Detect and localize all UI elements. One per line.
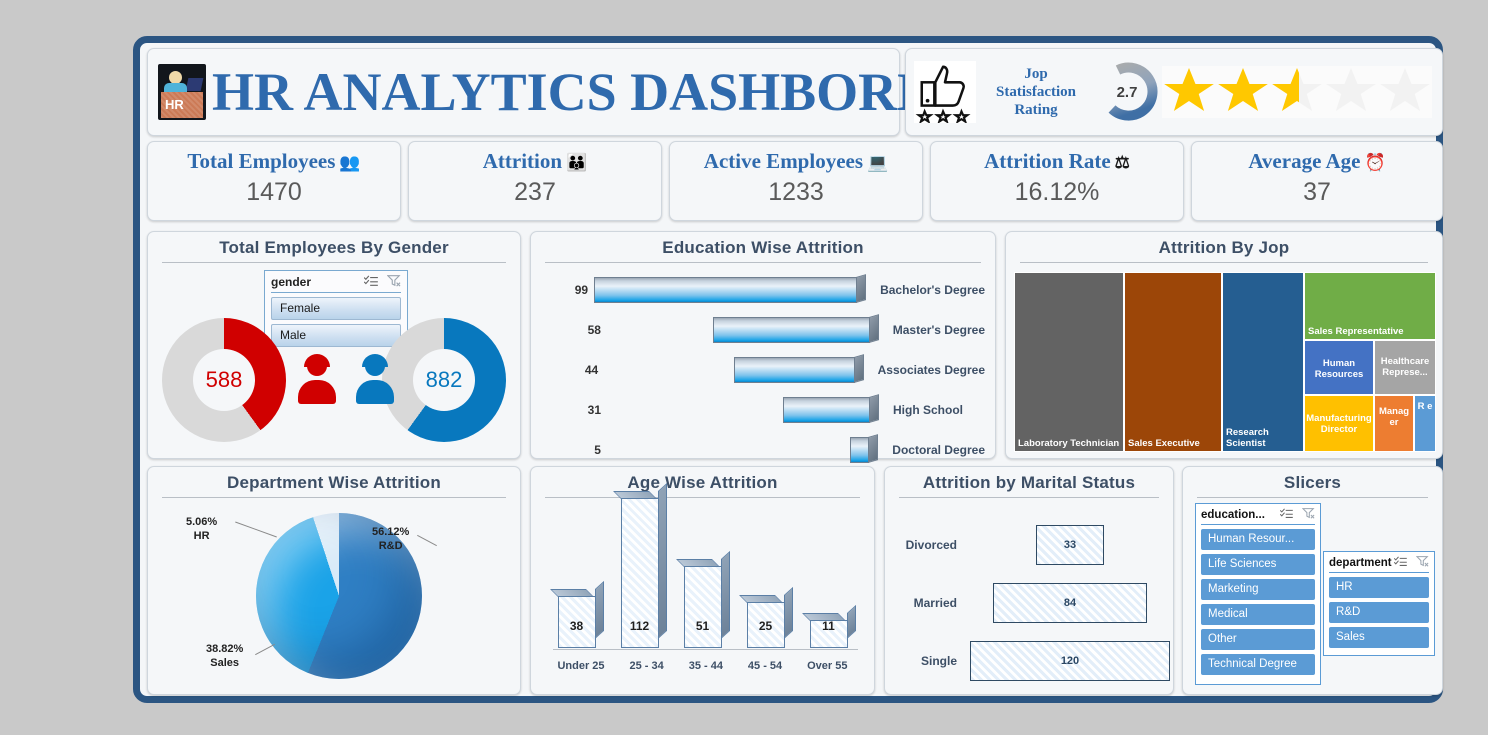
leader-line bbox=[417, 535, 437, 546]
treemap-tile-sales-representative[interactable]: Sales Representative bbox=[1304, 272, 1436, 340]
treemap-tile-research-scientist[interactable]: Research Scientist bbox=[1222, 272, 1304, 452]
divider bbox=[1020, 262, 1428, 263]
axis-tick: 25 - 34 bbox=[630, 660, 664, 672]
kpi-total-employees: Total Employees👥 1470 bbox=[147, 141, 401, 221]
pie-label-hr: 5.06%HR bbox=[186, 515, 217, 543]
gender-slicer[interactable]: gender Female Male bbox=[264, 270, 408, 346]
slicer-item-sales[interactable]: Sales bbox=[1329, 627, 1429, 648]
rating-gauge: 2.7 bbox=[1096, 61, 1158, 123]
kpi-average-age: Average Age⏰ 37 bbox=[1191, 141, 1443, 221]
slicer-item-life-sciences[interactable]: Life Sciences bbox=[1201, 554, 1315, 575]
thumbs-up-icon bbox=[914, 61, 976, 123]
slicer-item-female[interactable]: Female bbox=[271, 297, 401, 320]
rating-value: 2.7 bbox=[1096, 61, 1158, 123]
panel-title: Attrition By Jop bbox=[1006, 232, 1442, 258]
divider bbox=[162, 262, 506, 263]
panel-title: Slicers bbox=[1183, 467, 1442, 493]
kpi-label: Attrition Rate bbox=[984, 149, 1111, 173]
axis-tick: 45 - 54 bbox=[748, 660, 782, 672]
multi-select-icon[interactable] bbox=[1280, 508, 1293, 522]
axis-tick: Over 55 bbox=[807, 660, 847, 672]
row-bar: 120 bbox=[970, 641, 1170, 681]
panel-title: Attrition by Marital Status bbox=[885, 467, 1173, 493]
panel-title: Total Employees By Gender bbox=[148, 232, 520, 258]
kpi-label: Average Age bbox=[1248, 149, 1360, 173]
slicer-item-hr[interactable]: HR bbox=[1329, 577, 1429, 598]
panel-title: Age Wise Attrition bbox=[531, 467, 874, 493]
kpi-value: 1470 bbox=[148, 174, 400, 207]
rating-label: Jop Statisfaction Rating bbox=[976, 65, 1096, 119]
bar-value: 44 bbox=[541, 363, 604, 377]
clear-filter-icon[interactable] bbox=[1302, 507, 1315, 522]
slicer-item-marketing[interactable]: Marketing bbox=[1201, 579, 1315, 600]
axis-tick: 35 - 44 bbox=[689, 660, 723, 672]
row-label: Married bbox=[885, 596, 967, 610]
male-avatar-icon bbox=[354, 354, 396, 406]
multi-select-icon[interactable] bbox=[364, 275, 378, 290]
bar-label: Master's Degree bbox=[879, 323, 985, 337]
bar-value: 99 bbox=[541, 283, 594, 297]
bar-row: 58 Master's Degree bbox=[541, 315, 985, 345]
slicer-item-technical-degree[interactable]: Technical Degree bbox=[1201, 654, 1315, 675]
column-25-34: 112 bbox=[621, 498, 659, 648]
marital-row: Married 84 bbox=[885, 574, 1173, 632]
kpi-label: Attrition bbox=[483, 149, 562, 173]
treemap-tile-manager[interactable]: Manag er bbox=[1374, 395, 1414, 452]
slicer-header: department bbox=[1329, 557, 1392, 569]
job-satisfaction-rating-card: Jop Statisfaction Rating 2.7 bbox=[905, 48, 1443, 136]
slicer-item-medical[interactable]: Medical bbox=[1201, 604, 1315, 625]
chart-floor bbox=[553, 649, 858, 650]
multi-select-icon[interactable] bbox=[1394, 556, 1407, 570]
row-bar: 33 bbox=[1036, 525, 1104, 565]
treemap-tile-research-director[interactable]: R e bbox=[1414, 395, 1436, 452]
row-label: Single bbox=[885, 654, 967, 668]
people-group-icon: 👥 bbox=[339, 153, 360, 172]
clear-filter-icon[interactable] bbox=[387, 274, 401, 290]
attrition-by-job-panel: Attrition By Jop Laboratory Technician S… bbox=[1005, 231, 1443, 459]
education-slicer[interactable]: education... Human Resour... Life Scienc… bbox=[1195, 503, 1321, 685]
education-wise-attrition-panel: Education Wise Attrition 99 Bachelor's D… bbox=[530, 231, 996, 459]
treemap-tile-healthcare-representative[interactable]: Healthcare Represe... bbox=[1374, 340, 1436, 395]
star-rating bbox=[1162, 66, 1432, 118]
kpi-attrition-rate: Attrition Rate⚖ 16.12% bbox=[930, 141, 1184, 221]
attrition-by-marital-status-panel: Attrition by Marital Status Divorced 33 … bbox=[884, 466, 1174, 695]
slicer-header: gender bbox=[271, 275, 311, 289]
department-slicer[interactable]: department HR R&D Sales bbox=[1323, 551, 1435, 656]
axis-tick: Under 25 bbox=[557, 660, 604, 672]
male-value: 882 bbox=[413, 349, 475, 411]
column-45-54: 25 bbox=[747, 602, 785, 648]
total-employees-by-gender-panel: Total Employees By Gender gender Fem bbox=[147, 231, 521, 459]
kpi-attrition: Attrition👪 237 bbox=[408, 141, 662, 221]
worker-desk-icon: 💻 bbox=[867, 153, 888, 172]
kpi-value: 1233 bbox=[670, 174, 922, 207]
treemap-tile-laboratory-technician[interactable]: Laboratory Technician bbox=[1014, 272, 1124, 452]
bar-row: 31 High School bbox=[541, 395, 985, 425]
pie-label-rd: 56.12%R&D bbox=[372, 525, 409, 553]
kpi-label: Active Employees bbox=[704, 149, 863, 173]
slicer-item-human-resources[interactable]: Human Resour... bbox=[1201, 529, 1315, 550]
row-bar: 84 bbox=[993, 583, 1147, 623]
column-35-44: 51 bbox=[684, 566, 722, 648]
male-donut: 882 bbox=[382, 318, 506, 442]
treemap-tile-sales-executive[interactable]: Sales Executive bbox=[1124, 272, 1222, 452]
kpi-value: 16.12% bbox=[931, 174, 1183, 207]
person-percent-icon: ⚖ bbox=[1115, 153, 1130, 172]
slicer-item-other[interactable]: Other bbox=[1201, 629, 1315, 650]
leader-line bbox=[235, 522, 277, 538]
slicer-header: education... bbox=[1201, 509, 1265, 521]
marital-row: Divorced 33 bbox=[885, 516, 1173, 574]
treemap: Laboratory Technician Sales Executive Re… bbox=[1014, 272, 1434, 450]
age-axis-labels: Under 25 25 - 34 35 - 44 45 - 54 Over 55 bbox=[545, 660, 860, 672]
column-over-55: 11 bbox=[810, 620, 848, 648]
panel-title: Department Wise Attrition bbox=[148, 467, 520, 493]
age-wise-attrition-panel: Age Wise Attrition 38 112 51 25 11 Under… bbox=[530, 466, 875, 695]
age-circle-icon: ⏰ bbox=[1364, 153, 1385, 172]
bar-value: 58 bbox=[541, 323, 607, 337]
slicers-panel: Slicers education... Human Resour... Lif… bbox=[1182, 466, 1443, 695]
column-under-25: 38 bbox=[558, 596, 596, 648]
pie-label-sales: 38.82%Sales bbox=[206, 642, 243, 670]
treemap-tile-human-resources[interactable]: Human Resources bbox=[1304, 340, 1374, 395]
age-columns: 38 112 51 25 11 bbox=[545, 498, 860, 648]
treemap-tile-manufacturing-director[interactable]: Manufacturing Director bbox=[1304, 395, 1374, 452]
row-label: Divorced bbox=[885, 538, 967, 552]
bar-label: Doctoral Degree bbox=[878, 443, 985, 457]
slicer-item-male[interactable]: Male bbox=[271, 324, 401, 347]
department-wise-attrition-panel: Department Wise Attrition 56.12%R&D 38.8… bbox=[147, 466, 521, 695]
leader-line bbox=[255, 644, 275, 655]
slicer-item-rd[interactable]: R&D bbox=[1329, 602, 1429, 623]
dashboard-frame: HR HR ANALYTICS DASHBORD Jop Statisfacti… bbox=[133, 36, 1443, 703]
female-donut: 588 bbox=[162, 318, 286, 442]
kpi-value: 37 bbox=[1192, 174, 1442, 207]
bar-label: Bachelor's Degree bbox=[866, 283, 985, 297]
clear-filter-icon[interactable] bbox=[1416, 555, 1429, 570]
hr-desk-icon: HR bbox=[158, 64, 206, 120]
female-value: 588 bbox=[193, 349, 255, 411]
marital-row: Single 120 bbox=[885, 632, 1173, 690]
divider bbox=[162, 497, 506, 498]
kpi-value: 237 bbox=[409, 174, 661, 207]
female-avatar-icon bbox=[296, 354, 338, 406]
panel-title: Education Wise Attrition bbox=[531, 232, 995, 258]
dashboard-title-card: HR HR ANALYTICS DASHBORD bbox=[147, 48, 900, 136]
bar-label: Associates Degree bbox=[864, 363, 985, 377]
bar-row: 99 Bachelor's Degree bbox=[541, 275, 985, 305]
people-exit-icon: 👪 bbox=[566, 153, 587, 172]
bar-row: 5 Doctoral Degree bbox=[541, 435, 985, 465]
kpi-active-employees: Active Employees💻 1233 bbox=[669, 141, 923, 221]
bar-row: 44 Associates Degree bbox=[541, 355, 985, 385]
bar-label: High School bbox=[879, 403, 963, 417]
page-title: HR ANALYTICS DASHBORD bbox=[212, 65, 936, 119]
divider bbox=[1197, 497, 1428, 498]
kpi-label: Total Employees bbox=[187, 149, 335, 173]
bar-value: 5 bbox=[541, 443, 607, 457]
bar-value: 31 bbox=[541, 403, 607, 417]
